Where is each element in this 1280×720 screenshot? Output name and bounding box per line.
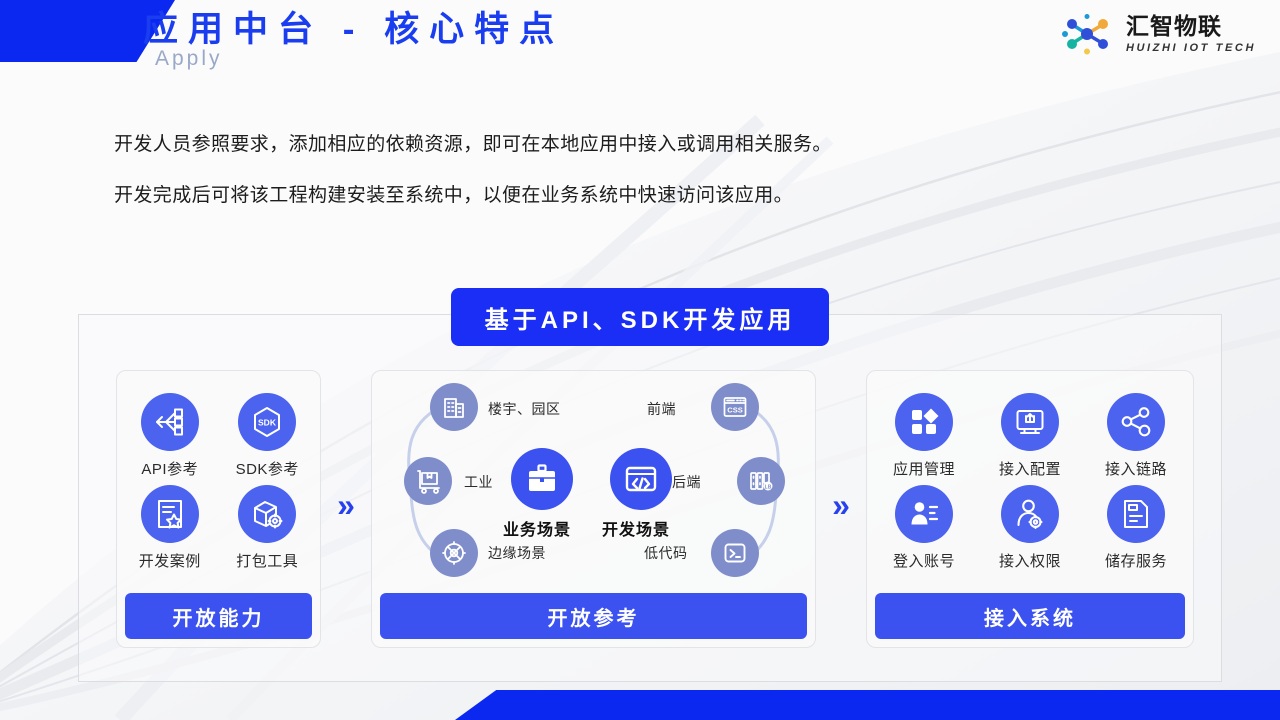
hub-business-scenario[interactable] xyxy=(511,448,573,510)
sdk-cube-icon: SDK xyxy=(238,393,296,451)
svg-text:LB: LB xyxy=(765,484,772,490)
document-star-icon xyxy=(141,485,199,543)
panel-right-tile-grid: 应用管理 接入配置 xyxy=(867,371,1193,593)
user-permission-icon xyxy=(1001,485,1059,543)
brand-logo: 汇智物联 HUIZHI IOT TECH xyxy=(1062,12,1256,56)
node-backend[interactable]: LB xyxy=(737,457,785,505)
panel-left-tile-grid: API参考 SDK SDK参考 xyxy=(117,371,320,593)
tile-storage-service[interactable]: 储存服务 xyxy=(1083,485,1189,571)
panel-row: API参考 SDK SDK参考 xyxy=(78,370,1222,660)
tile-access-permission[interactable]: 接入权限 xyxy=(977,485,1083,571)
tile-label: 登入账号 xyxy=(893,550,955,571)
molecule-network-icon xyxy=(1062,12,1118,56)
tile-access-config[interactable]: 接入配置 xyxy=(977,393,1083,479)
code-window-icon xyxy=(623,461,659,497)
node-label-industry: 工业 xyxy=(464,472,493,492)
logo-name-cn: 汇智物联 xyxy=(1126,15,1256,38)
chevron-right-icon-2: » xyxy=(816,489,866,521)
tile-sdk-reference[interactable]: SDK SDK参考 xyxy=(219,393,317,479)
node-industry[interactable] xyxy=(404,457,452,505)
tile-label: API参考 xyxy=(141,458,198,479)
page-subtitle: Apply xyxy=(155,47,223,71)
hub-label-development-scenario: 开发场景 xyxy=(602,516,670,540)
edge-node-icon xyxy=(440,539,468,567)
svg-text:CSS: CSS xyxy=(727,406,742,415)
tile-api-reference[interactable]: API参考 xyxy=(121,393,219,479)
hub-label-business-scenario: 业务场景 xyxy=(503,516,571,540)
pallet-cart-icon xyxy=(414,467,442,495)
page-title: 应用中台 - 核心特点 xyxy=(143,8,564,52)
cta-open-reference[interactable]: 开放参考 xyxy=(380,593,807,639)
tile-label: 打包工具 xyxy=(236,550,298,571)
logo-name-en: HUIZHI IOT TECH xyxy=(1126,43,1256,54)
cta-access-system[interactable]: 接入系统 xyxy=(875,593,1185,639)
tile-dev-case[interactable]: 开发案例 xyxy=(121,485,219,571)
share-network-icon xyxy=(1107,393,1165,451)
tile-label: 接入配置 xyxy=(999,458,1061,479)
storage-doc-icon xyxy=(1107,485,1165,543)
panel-open-capability[interactable]: API参考 SDK SDK参考 xyxy=(116,370,321,648)
slide-root: 应用中台 - 核心特点 Apply 汇智物联 HUIZHI IOT TECH xyxy=(0,0,1280,720)
node-label-backend: 后端 xyxy=(672,472,701,492)
node-label-low-code: 低代码 xyxy=(644,543,688,563)
server-db-icon: LB xyxy=(747,467,775,495)
node-low-code[interactable] xyxy=(711,529,759,577)
node-frontend[interactable]: CSS xyxy=(711,383,759,431)
chevron-right-icon-1: » xyxy=(321,489,371,521)
tile-label: 接入链路 xyxy=(1105,458,1167,479)
main-banner: 基于API、SDK开发应用 xyxy=(451,288,829,346)
user-account-icon xyxy=(895,485,953,543)
api-fork-icon xyxy=(141,393,199,451)
terminal-icon xyxy=(721,539,749,567)
tile-label: SDK参考 xyxy=(236,458,299,479)
briefcase-icon xyxy=(524,461,560,497)
building-icon xyxy=(440,393,468,421)
node-label-building-park: 楼宇、园区 xyxy=(488,399,561,419)
paragraph-1: 开发人员参照要求，添加相应的依赖资源，即可在本地应用中接入或调用相关服务。 xyxy=(114,133,832,156)
tile-label: 储存服务 xyxy=(1105,550,1167,571)
body-text-block: 开发人员参照要求，添加相应的依赖资源，即可在本地应用中接入或调用相关服务。 开发… xyxy=(114,133,832,235)
paragraph-2: 开发完成后可将该工程构建安装至系统中，以便在业务系统中快速访问该应用。 xyxy=(114,184,832,207)
node-edge-scenario[interactable] xyxy=(430,529,478,577)
tile-label: 应用管理 xyxy=(893,458,955,479)
box-gear-icon xyxy=(238,485,296,543)
page-header: 应用中台 - 核心特点 Apply 汇智物联 HUIZHI IOT TECH xyxy=(0,0,1280,75)
tile-label: 开发案例 xyxy=(139,550,201,571)
node-label-edge-scenario: 边缘场景 xyxy=(488,543,546,563)
scenario-diagram: 楼宇、园区 工业 xyxy=(372,371,815,593)
footer-accent-shape xyxy=(455,690,1280,720)
app-grid-icon xyxy=(895,393,953,451)
node-building-park[interactable] xyxy=(430,383,478,431)
panel-open-reference[interactable]: 楼宇、园区 工业 xyxy=(371,370,816,648)
cta-open-capability[interactable]: 开放能力 xyxy=(125,593,312,639)
hub-development-scenario[interactable] xyxy=(610,448,672,510)
tile-access-link[interactable]: 接入链路 xyxy=(1083,393,1189,479)
panel-access-system[interactable]: 应用管理 接入配置 xyxy=(866,370,1194,648)
monitor-config-icon xyxy=(1001,393,1059,451)
svg-text:SDK: SDK xyxy=(258,418,277,428)
css-browser-icon: CSS xyxy=(721,393,749,421)
tile-label: 接入权限 xyxy=(999,550,1061,571)
tile-packaging-tool[interactable]: 打包工具 xyxy=(219,485,317,571)
tile-login-account[interactable]: 登入账号 xyxy=(871,485,977,571)
node-label-frontend: 前端 xyxy=(647,399,676,419)
tile-app-management[interactable]: 应用管理 xyxy=(871,393,977,479)
